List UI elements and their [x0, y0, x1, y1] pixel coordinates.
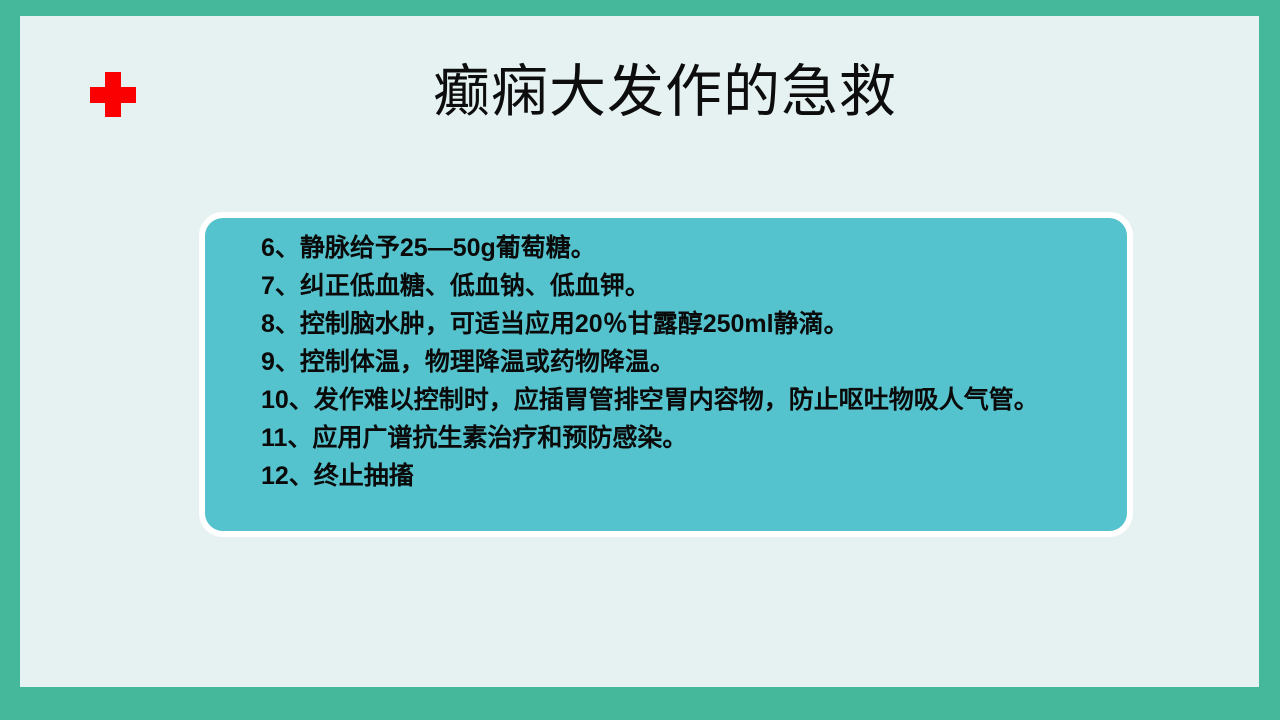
list-item: 6、静脉给予25—50g葡萄糖。: [261, 229, 1039, 267]
list-item: 10、发作难以控制时，应插胃管排空胃内容物，防止呕吐物吸人气管。: [261, 381, 1039, 419]
list-item: 12、终止抽搐: [261, 457, 1039, 495]
slide-page-area: 癫痫大发作的急救 6、静脉给予25—50g葡萄糖。 7、纠正低血糖、低血钠、低血…: [20, 16, 1259, 687]
slide-canvas: 癫痫大发作的急救 6、静脉给予25—50g葡萄糖。 7、纠正低血糖、低血钠、低血…: [0, 0, 1280, 720]
content-list: 6、静脉给予25—50g葡萄糖。 7、纠正低血糖、低血钠、低血钾。 8、控制脑水…: [261, 229, 1039, 495]
list-item: 9、控制体温，物理降温或药物降温。: [261, 343, 1039, 381]
list-item: 8、控制脑水肿，可适当应用20％甘露醇250ml静滴。: [261, 305, 1039, 343]
list-item: 7、纠正低血糖、低血钠、低血钾。: [261, 267, 1039, 305]
list-item: 11、应用广谱抗生素治疗和预防感染。: [261, 419, 1039, 457]
page-title: 癫痫大发作的急救: [20, 60, 1280, 126]
content-card: 6、静脉给予25—50g葡萄糖。 7、纠正低血糖、低血钠、低血钾。 8、控制脑水…: [199, 212, 1133, 537]
